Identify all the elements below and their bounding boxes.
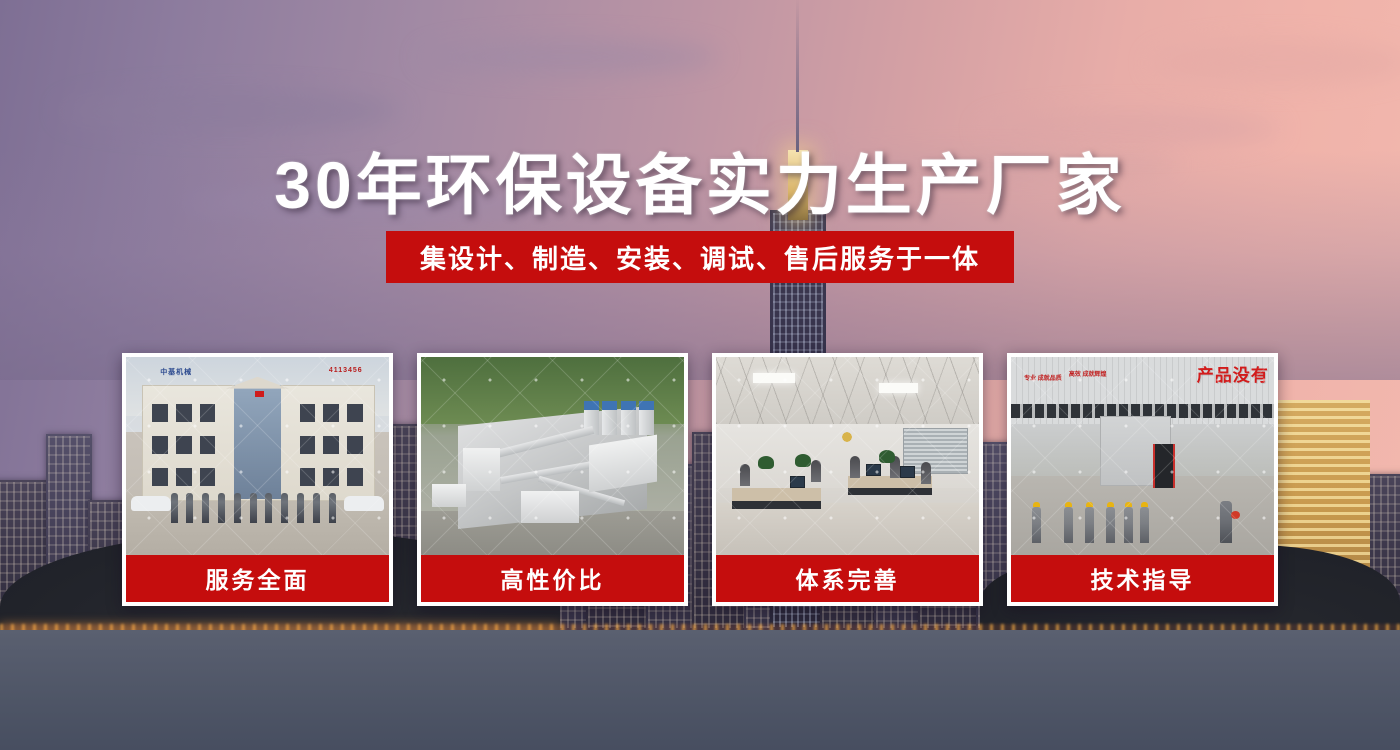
promotional-banner: 30年环保设备实力生产厂家 集设计、制造、安装、调试、售后服务于一体: [0, 0, 1400, 750]
card-label: 高性价比: [421, 555, 684, 602]
feature-card[interactable]: 中基机械 4113456 服务全面: [122, 353, 393, 606]
subtitle-banner: 集设计、制造、安装、调试、售后服务于一体: [386, 231, 1014, 283]
page-title: 30年环保设备实力生产厂家: [0, 132, 1400, 228]
building-phone-number: 4113456: [329, 367, 363, 374]
factory-sign-text: 产品没有: [1197, 361, 1269, 386]
card-label: 服务全面: [126, 555, 389, 602]
cloud: [1150, 40, 1400, 86]
river-water: [0, 630, 1400, 750]
card-label: 技术指导: [1011, 555, 1274, 602]
building-sign-text: 中基机械: [160, 367, 192, 377]
photo-factory-workers: 产品没有 专业 成就品质 高效 成就辉煌: [1011, 357, 1274, 555]
feature-card-list: 中基机械 4113456 服务全面: [122, 353, 1278, 606]
cloud: [420, 40, 720, 74]
subtitle-text: 集设计、制造、安装、调试、售后服务于一体: [420, 239, 980, 276]
card-label: 体系完善: [716, 555, 979, 602]
photo-company-headquarters: 中基机械 4113456: [126, 357, 389, 555]
feature-card[interactable]: 高性价比: [417, 353, 688, 606]
cloud: [60, 90, 400, 132]
photo-office-interior: [716, 357, 979, 555]
feature-card[interactable]: 产品没有 专业 成就品质 高效 成就辉煌 技术指导: [1007, 353, 1278, 606]
factory-slogan-2: 高效 成就辉煌: [1069, 369, 1107, 378]
feature-card[interactable]: 体系完善: [712, 353, 983, 606]
photo-industrial-plant: [421, 357, 684, 555]
factory-slogan-1: 专业 成就品质: [1024, 373, 1062, 382]
tower-spire: [796, 0, 799, 152]
